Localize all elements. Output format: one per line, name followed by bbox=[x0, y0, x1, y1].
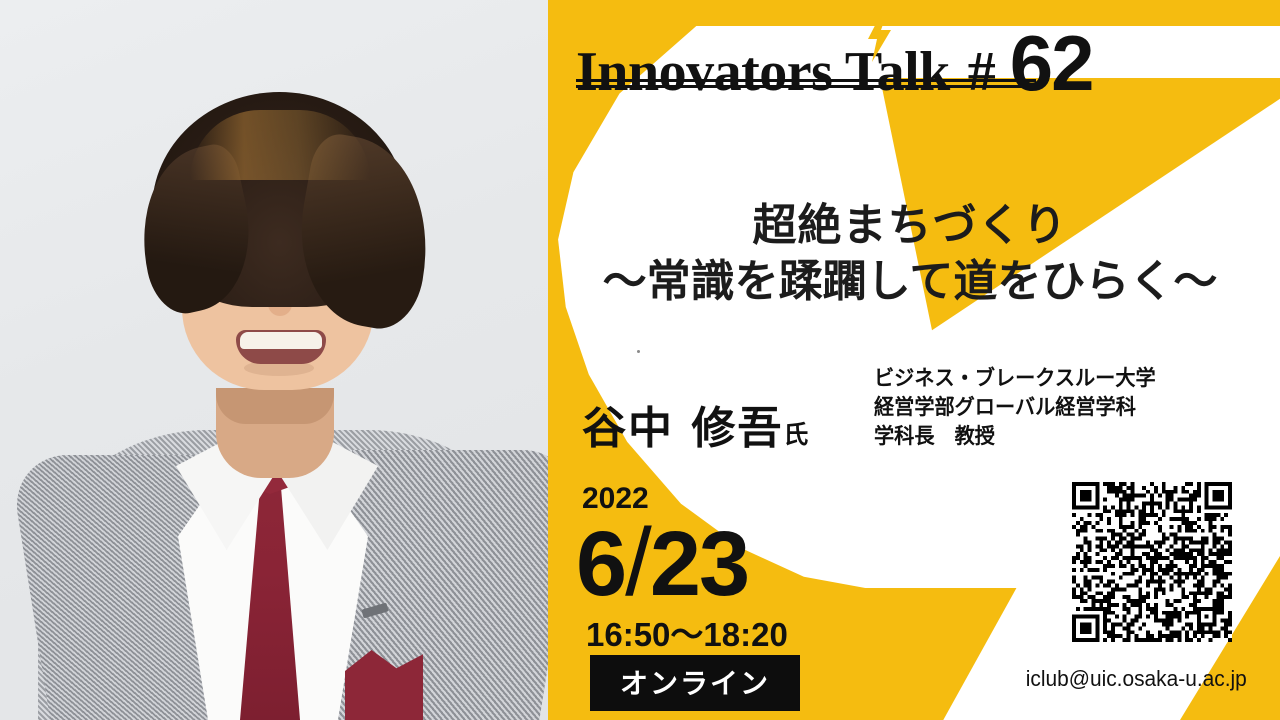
qr-code[interactable] bbox=[1072, 482, 1232, 642]
portrait-neck-shadow bbox=[216, 388, 334, 424]
speaker-affiliation: ビジネス・ブレークスルー大学 経営学部グローバル経営学科 学科長 教授 bbox=[874, 364, 1204, 451]
lecture-title-line2: 〜常識を蹂躙して道をひらく〜 bbox=[560, 256, 1260, 308]
event-day: 23 bbox=[650, 513, 748, 615]
lecture-title-line1: 超絶まちづくり bbox=[560, 200, 1260, 252]
venue-badge: オンライン bbox=[590, 655, 800, 711]
decorative-dot bbox=[637, 350, 640, 353]
speaker-name-row: 谷中 修吾氏 bbox=[582, 392, 808, 456]
speaker-name-suffix: 氏 bbox=[783, 420, 808, 449]
speaker-name: 谷中 修吾 bbox=[582, 403, 783, 454]
lecture-title: 超絶まちづくり 〜常識を蹂躙して道をひらく〜 bbox=[560, 200, 1260, 308]
hash-symbol: # bbox=[968, 40, 996, 104]
series-title: Innovators Talk bbox=[576, 44, 950, 100]
contact-email[interactable]: iclub@uic.osaka-u.ac.jp bbox=[1026, 666, 1245, 692]
speaker-block: 谷中 修吾氏 ビジネス・ブレークスルー大学 経営学部グローバル経営学科 学科長 … bbox=[560, 378, 1260, 474]
speaker-affiliation-line1: ビジネス・ブレークスルー大学 bbox=[874, 364, 1191, 393]
series-title-underline bbox=[576, 79, 1036, 88]
event-poster: Innovators Talk # 62 超絶まちづくり 〜常識を蹂躙して道をひ… bbox=[0, 0, 1280, 720]
event-time-range: 16:50〜18:20 bbox=[586, 608, 788, 656]
portrait-mouth bbox=[236, 330, 326, 364]
event-month: 6 bbox=[576, 513, 625, 615]
speaker-portrait bbox=[0, 0, 560, 720]
event-month-day: 6/23 bbox=[576, 508, 748, 618]
episode-number: 62 bbox=[1010, 18, 1093, 109]
event-date-block: 2022 6/23 16:50〜18:20 オンライン bbox=[576, 482, 876, 712]
speaker-affiliation-line3: 学科長 教授 bbox=[874, 422, 1191, 451]
date-separator: / bbox=[625, 509, 650, 616]
speaker-affiliation-line2: 経営学部グローバル経営学科 bbox=[874, 393, 1191, 422]
